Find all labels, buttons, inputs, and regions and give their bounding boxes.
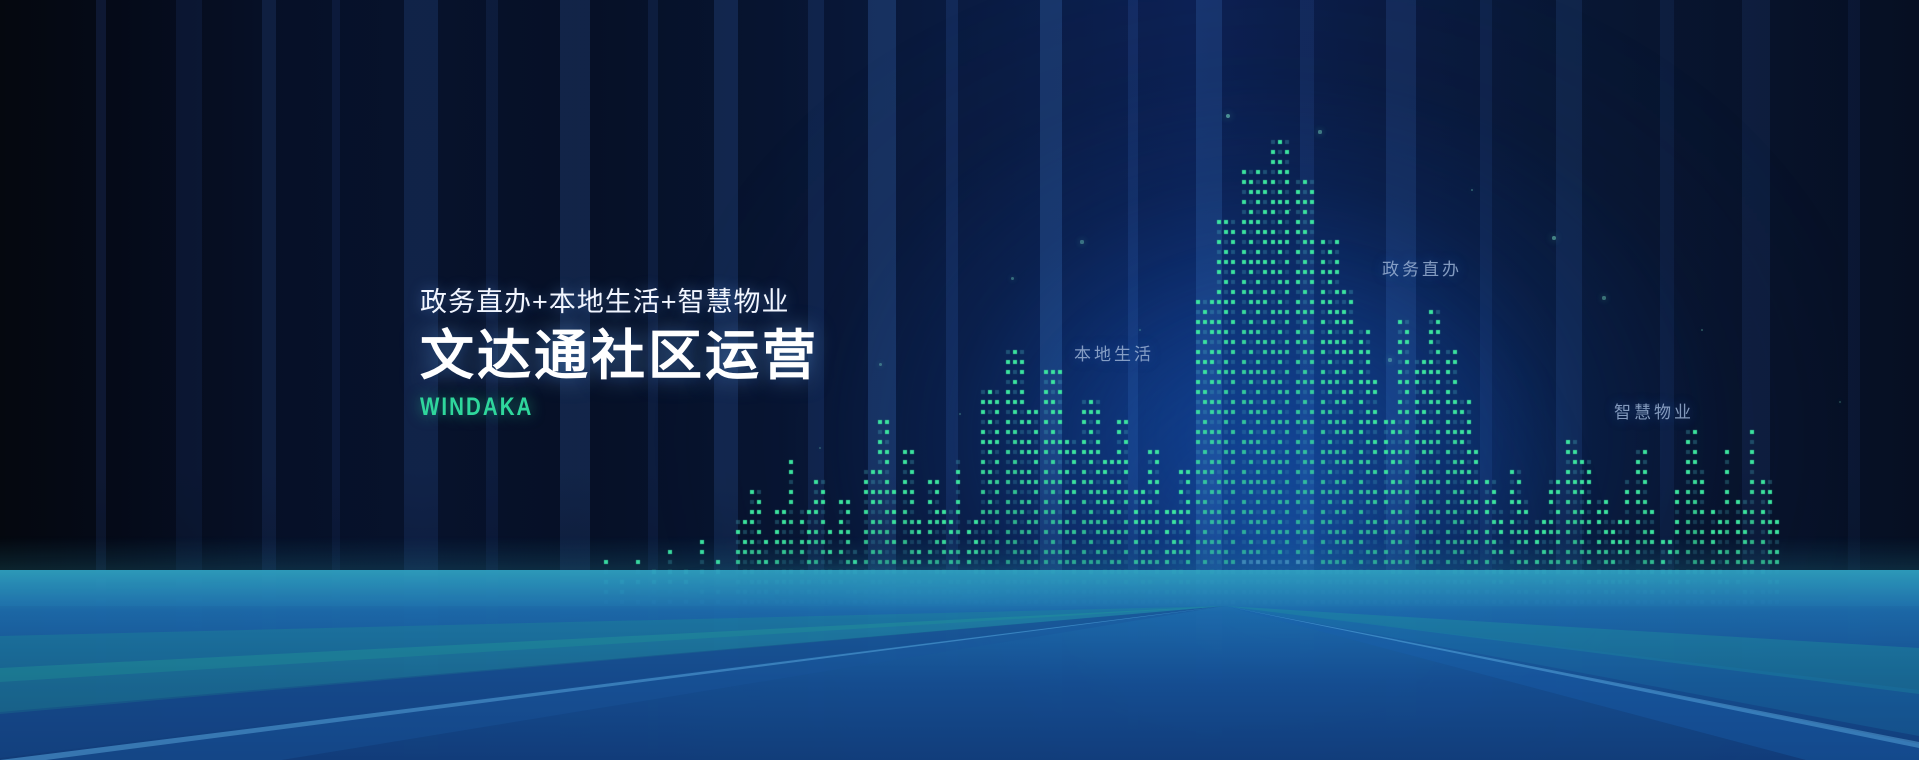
hero-tagline: 政务直办+本地生活+智慧物业	[420, 286, 819, 320]
skyline-label-government: 政务直办	[1382, 255, 1462, 280]
skyline-label-smart-property: 智慧物业	[1614, 398, 1694, 423]
skyline-label-local-life: 本地生活	[1074, 340, 1154, 365]
hero-headline: 文达通社区运营	[420, 326, 819, 388]
dotted-city-skyline	[0, 86, 1919, 606]
hero-copy-block: 政务直办+本地生活+智慧物业 文达通社区运营 WINDAKA	[420, 286, 819, 422]
brand-name: WINDAKA	[420, 393, 747, 422]
hero-banner: 政务直办 本地生活 智慧物业 政务直办+本地生活+智慧物业 文达通社区运营 WI…	[0, 0, 1919, 760]
perspective-ground	[0, 570, 1919, 760]
